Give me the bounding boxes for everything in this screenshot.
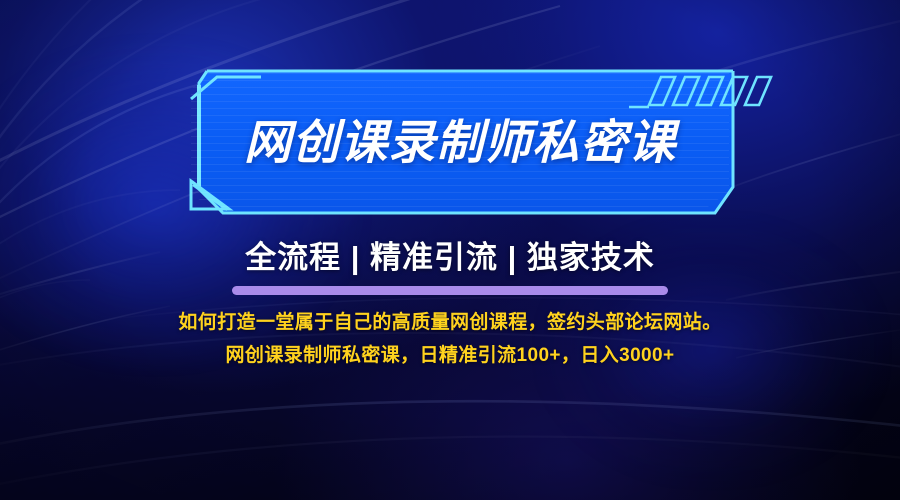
banner-title-text: 网创课录制师私密课	[187, 119, 733, 166]
subtitle-container: 全流程 | 精准引流 | 独家技术	[0, 241, 900, 276]
description-line-1: 如何打造一堂属于自己的高质量网创课程，签约头部论坛网站。	[0, 307, 900, 334]
description-line-2: 网创课录制师私密课，日精准引流100+，日入3000+	[0, 340, 900, 367]
title-banner: 网创课录制师私密课	[187, 69, 733, 215]
subtitle-underline-bar	[232, 286, 668, 295]
subtitle-text: 全流程 | 精准引流 | 独家技术	[245, 241, 655, 276]
poster-canvas: 网创课录制师私密课 全流程 | 精准引流 | 独家技术 如何打造一堂属于自己的高…	[0, 0, 900, 500]
